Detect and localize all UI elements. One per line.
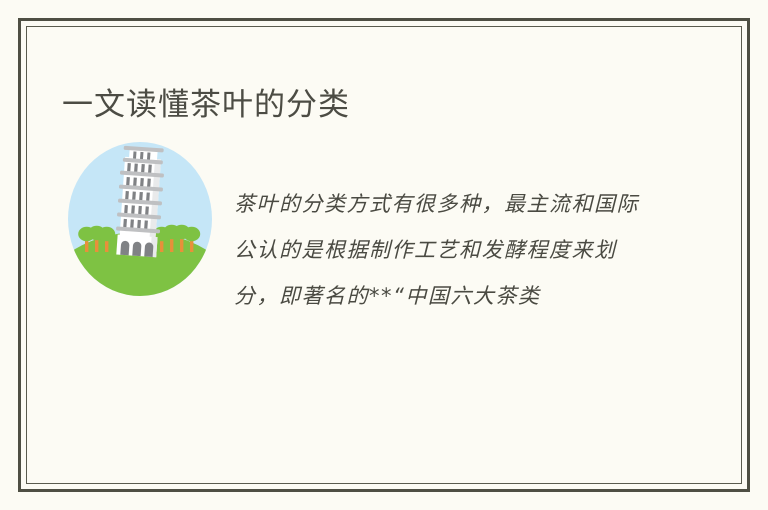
leaning-tower-of-pisa-illustration [68, 142, 212, 296]
tower-arches [120, 241, 153, 257]
page-title: 一文读懂茶叶的分类 [62, 85, 350, 125]
article-body-text: 茶叶的分类方式有很多种，最主流和国际公认的是根据制作工艺和发酵程度来划分，即著名… [234, 181, 652, 319]
illustration-svg [68, 142, 212, 296]
illustration-scene [68, 142, 212, 296]
article-card: 一文读懂茶叶的分类 [0, 0, 768, 510]
